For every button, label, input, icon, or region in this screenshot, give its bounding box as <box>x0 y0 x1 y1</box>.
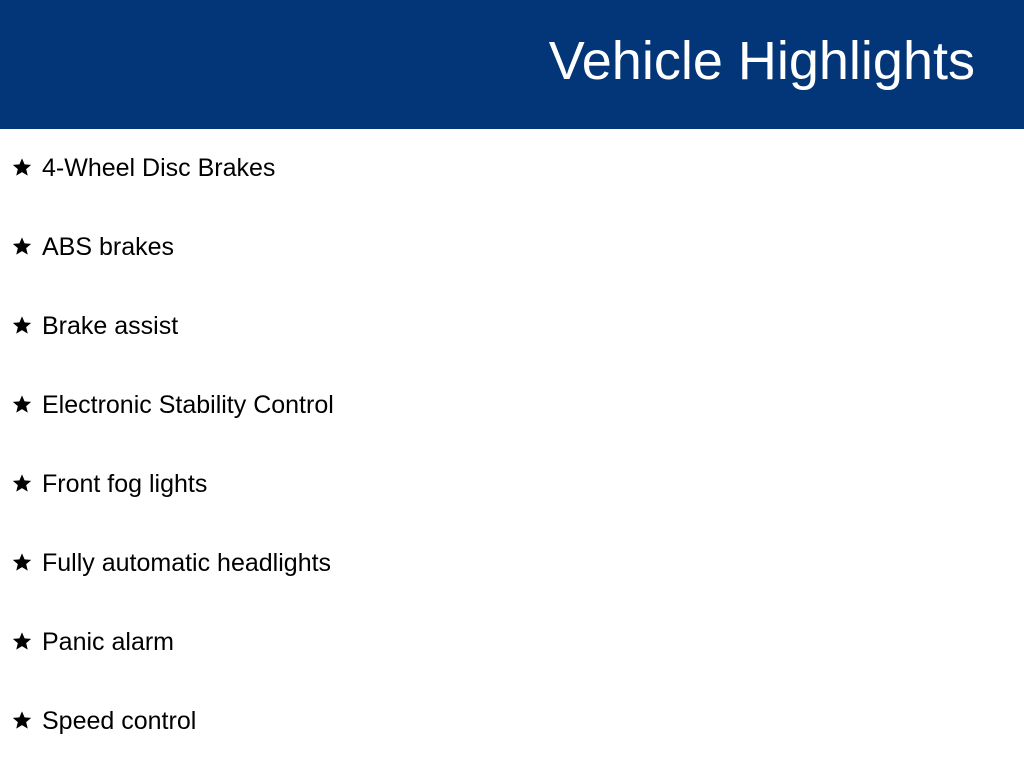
slide-body: 4-Wheel Disc BrakesABS brakesBrake assis… <box>0 129 1024 768</box>
page-title: Vehicle Highlights <box>549 28 975 94</box>
vehicle-feature-list: 4-Wheel Disc BrakesABS brakesBrake assis… <box>0 129 1024 761</box>
star-icon <box>12 631 34 655</box>
list-item: Front fog lights <box>0 445 1024 524</box>
feature-label: Speed control <box>42 707 196 736</box>
star-icon <box>12 394 34 418</box>
star-icon <box>12 236 34 260</box>
feature-label: ABS brakes <box>42 233 174 262</box>
feature-label: Electronic Stability Control <box>42 391 334 420</box>
star-icon <box>12 473 34 497</box>
list-item: Brake assist <box>0 287 1024 366</box>
star-icon <box>12 157 34 181</box>
list-item: ABS brakes <box>0 208 1024 287</box>
star-icon <box>12 315 34 339</box>
feature-label: 4-Wheel Disc Brakes <box>42 154 275 183</box>
list-item: Speed control <box>0 682 1024 761</box>
feature-label: Brake assist <box>42 312 178 341</box>
list-item: Electronic Stability Control <box>0 366 1024 445</box>
star-icon <box>12 552 34 576</box>
feature-label: Fully automatic headlights <box>42 549 331 578</box>
list-item: 4-Wheel Disc Brakes <box>0 129 1024 208</box>
list-item: Fully automatic headlights <box>0 524 1024 603</box>
feature-label: Panic alarm <box>42 628 174 657</box>
slide-header: Vehicle Highlights <box>0 0 1024 129</box>
feature-label: Front fog lights <box>42 470 207 499</box>
list-item: Panic alarm <box>0 603 1024 682</box>
star-icon <box>12 710 34 734</box>
